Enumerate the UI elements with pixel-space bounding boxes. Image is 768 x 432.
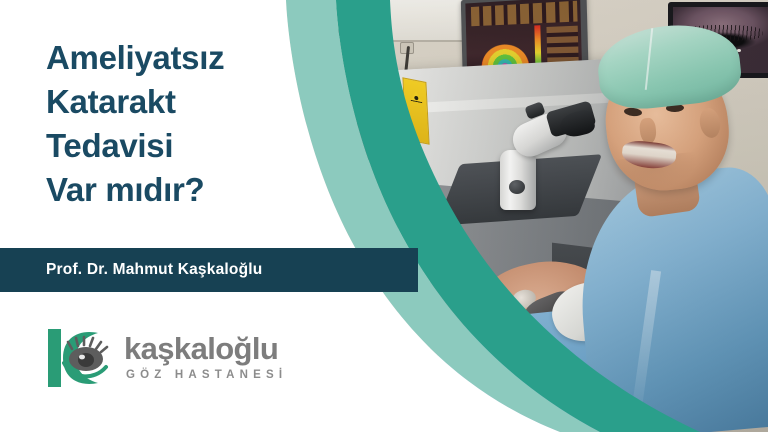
speaker-name-banner: Prof. Dr. Mahmut Kaşkaloğlu xyxy=(0,248,418,292)
eye-k-logo-icon xyxy=(46,327,122,389)
headline-line-2: Katarakt xyxy=(46,80,316,124)
page-title: Ameliyatsız Katarakt Tedavisi Var mıdır? xyxy=(46,36,316,212)
hospital-logo[interactable]: kaşkaloğlu GÖZ HASTANESİ xyxy=(46,324,287,392)
headline-line-3: Tedavisi xyxy=(46,124,316,168)
logo-tagline: GÖZ HASTANESİ xyxy=(126,369,287,381)
logo-wordmark: kaşkaloğlu xyxy=(124,333,287,364)
speaker-name: Prof. Dr. Mahmut Kaşkaloğlu xyxy=(46,261,262,279)
logo-text-block: kaşkaloğlu GÖZ HASTANESİ xyxy=(124,333,287,383)
thumbnail-canvas: Ameliyatsız Katarakt Tedavisi Var mıdır?… xyxy=(0,0,768,432)
headline-line-1: Ameliyatsız xyxy=(46,36,316,80)
headline-line-4: Var mıdır? xyxy=(46,168,316,212)
